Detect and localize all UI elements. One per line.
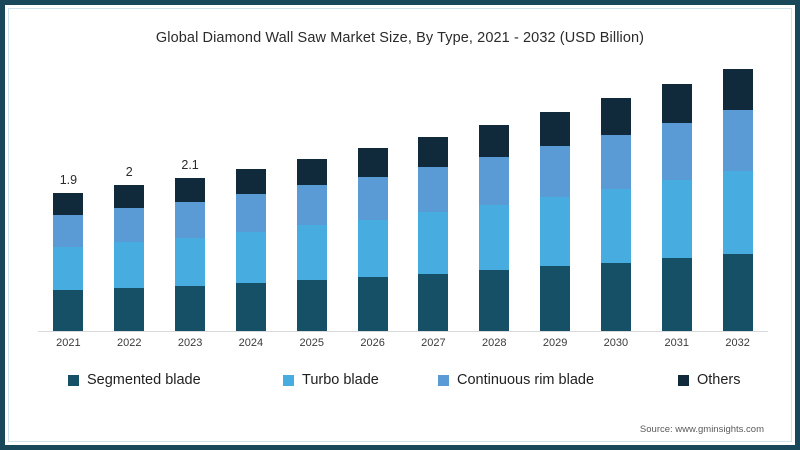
legend-item-segmented-blade[interactable]: Segmented blade <box>68 372 201 388</box>
chart-title: Global Diamond Wall Saw Market Size, By … <box>0 30 800 46</box>
source-attribution: Source: www.gminsights.com <box>640 424 764 435</box>
legend-label: Continuous rim blade <box>457 372 594 388</box>
bar-segment-turbo-blade[interactable] <box>479 205 509 270</box>
legend-item-continuous-rim-blade[interactable]: Continuous rim blade <box>438 372 594 388</box>
bar-segment-segmented-blade[interactable] <box>175 286 205 331</box>
x-axis-tick-label: 2021 <box>56 337 80 349</box>
bar-segment-turbo-blade[interactable] <box>662 180 692 258</box>
bar-group[interactable]: 2026 <box>358 69 388 331</box>
bar-segment-others[interactable] <box>358 148 388 176</box>
stacked-bar[interactable] <box>479 125 509 331</box>
bar-segment-others[interactable] <box>723 69 753 110</box>
legend-label: Turbo blade <box>302 372 379 388</box>
bar-segment-continuous-rim-blade[interactable] <box>297 185 327 225</box>
bar-segment-continuous-rim-blade[interactable] <box>358 177 388 220</box>
x-axis-tick-label: 2029 <box>543 337 567 349</box>
bar-segment-continuous-rim-blade[interactable] <box>236 194 266 232</box>
bar-segment-segmented-blade[interactable] <box>601 263 631 331</box>
bar-group[interactable]: 2028 <box>479 69 509 331</box>
bar-group[interactable]: 1.92021 <box>53 69 83 331</box>
bar-segment-continuous-rim-blade[interactable] <box>662 123 692 180</box>
x-axis-tick-label: 2028 <box>482 337 506 349</box>
bar-segment-segmented-blade[interactable] <box>540 266 570 331</box>
x-axis-tick-label: 2024 <box>239 337 263 349</box>
bar-segment-turbo-blade[interactable] <box>358 220 388 277</box>
x-axis-tick-label: 2032 <box>725 337 749 349</box>
stacked-bar[interactable] <box>418 137 448 331</box>
bar-group[interactable]: 2031 <box>662 69 692 331</box>
bar-segment-turbo-blade[interactable] <box>53 247 83 291</box>
bar-segment-others[interactable] <box>175 178 205 202</box>
bar-segment-continuous-rim-blade[interactable] <box>53 215 83 247</box>
legend-label: Others <box>697 372 741 388</box>
stacked-bar[interactable] <box>540 112 570 331</box>
bar-segment-segmented-blade[interactable] <box>662 258 692 331</box>
bar-value-label: 2 <box>126 165 133 179</box>
bar-segment-turbo-blade[interactable] <box>114 242 144 288</box>
stacked-bar[interactable] <box>236 169 266 331</box>
plot-area: 1.92021220222.12023202420252026202720282… <box>38 70 768 332</box>
bar-segment-segmented-blade[interactable] <box>114 288 144 331</box>
bar-segment-segmented-blade[interactable] <box>358 277 388 331</box>
bar-group[interactable]: 2.12023 <box>175 69 205 331</box>
bar-segment-turbo-blade[interactable] <box>723 171 753 254</box>
x-axis-tick-label: 2031 <box>665 337 689 349</box>
x-axis-tick-label: 2030 <box>604 337 628 349</box>
bar-group[interactable]: 2030 <box>601 69 631 331</box>
bar-segment-turbo-blade[interactable] <box>236 232 266 283</box>
bar-segment-continuous-rim-blade[interactable] <box>540 146 570 197</box>
bar-segment-segmented-blade[interactable] <box>53 290 83 331</box>
bar-segment-turbo-blade[interactable] <box>175 238 205 286</box>
stacked-bar[interactable] <box>723 69 753 331</box>
bar-group[interactable]: 22022 <box>114 69 144 331</box>
bar-group[interactable]: 2027 <box>418 69 448 331</box>
stacked-bar[interactable] <box>601 98 631 331</box>
stacked-bar[interactable] <box>175 178 205 331</box>
bar-segment-turbo-blade[interactable] <box>418 212 448 273</box>
bar-segment-segmented-blade[interactable] <box>723 254 753 331</box>
stacked-bar[interactable] <box>114 185 144 331</box>
bar-segment-others[interactable] <box>479 125 509 157</box>
x-axis-tick-label: 2022 <box>117 337 141 349</box>
x-axis-line <box>38 331 768 332</box>
bar-value-label: 1.9 <box>60 173 77 187</box>
bar-segment-others[interactable] <box>53 193 83 215</box>
bar-group[interactable]: 2032 <box>723 69 753 331</box>
legend-swatch-icon <box>438 375 449 386</box>
legend-item-others[interactable]: Others <box>678 372 741 388</box>
stacked-bar[interactable] <box>662 84 692 331</box>
legend-label: Segmented blade <box>87 372 201 388</box>
stacked-bar[interactable] <box>297 159 327 331</box>
chart-figure: Global Diamond Wall Saw Market Size, By … <box>0 0 800 450</box>
bar-segment-others[interactable] <box>418 137 448 167</box>
legend-item-turbo-blade[interactable]: Turbo blade <box>283 372 379 388</box>
bar-segment-continuous-rim-blade[interactable] <box>723 110 753 171</box>
bar-segment-continuous-rim-blade[interactable] <box>418 167 448 212</box>
bar-segment-continuous-rim-blade[interactable] <box>601 135 631 190</box>
bar-segment-others[interactable] <box>540 112 570 146</box>
bar-segment-continuous-rim-blade[interactable] <box>175 202 205 238</box>
bar-group[interactable]: 2025 <box>297 69 327 331</box>
bar-segment-turbo-blade[interactable] <box>540 197 570 266</box>
bar-segment-others[interactable] <box>601 98 631 134</box>
stacked-bar[interactable] <box>53 193 83 331</box>
stacked-bar[interactable] <box>358 148 388 331</box>
bar-segment-turbo-blade[interactable] <box>297 225 327 280</box>
bar-group[interactable]: 2024 <box>236 69 266 331</box>
x-axis-tick-label: 2027 <box>421 337 445 349</box>
bar-segment-others[interactable] <box>114 185 144 208</box>
x-axis-tick-label: 2023 <box>178 337 202 349</box>
x-axis-tick-label: 2025 <box>300 337 324 349</box>
bar-segment-turbo-blade[interactable] <box>601 189 631 263</box>
bar-segment-others[interactable] <box>297 159 327 186</box>
x-axis-tick-label: 2026 <box>360 337 384 349</box>
bar-value-label: 2.1 <box>181 158 198 172</box>
bar-segment-others[interactable] <box>236 169 266 194</box>
bar-segment-others[interactable] <box>662 84 692 123</box>
legend-swatch-icon <box>678 375 689 386</box>
bar-segment-segmented-blade[interactable] <box>236 283 266 331</box>
bar-group[interactable]: 2029 <box>540 69 570 331</box>
bar-segment-segmented-blade[interactable] <box>418 274 448 331</box>
bar-segment-continuous-rim-blade[interactable] <box>114 208 144 242</box>
legend-swatch-icon <box>283 375 294 386</box>
legend-swatch-icon <box>68 375 79 386</box>
bar-segment-continuous-rim-blade[interactable] <box>479 157 509 205</box>
bar-segment-segmented-blade[interactable] <box>297 280 327 331</box>
bar-segment-segmented-blade[interactable] <box>479 270 509 331</box>
